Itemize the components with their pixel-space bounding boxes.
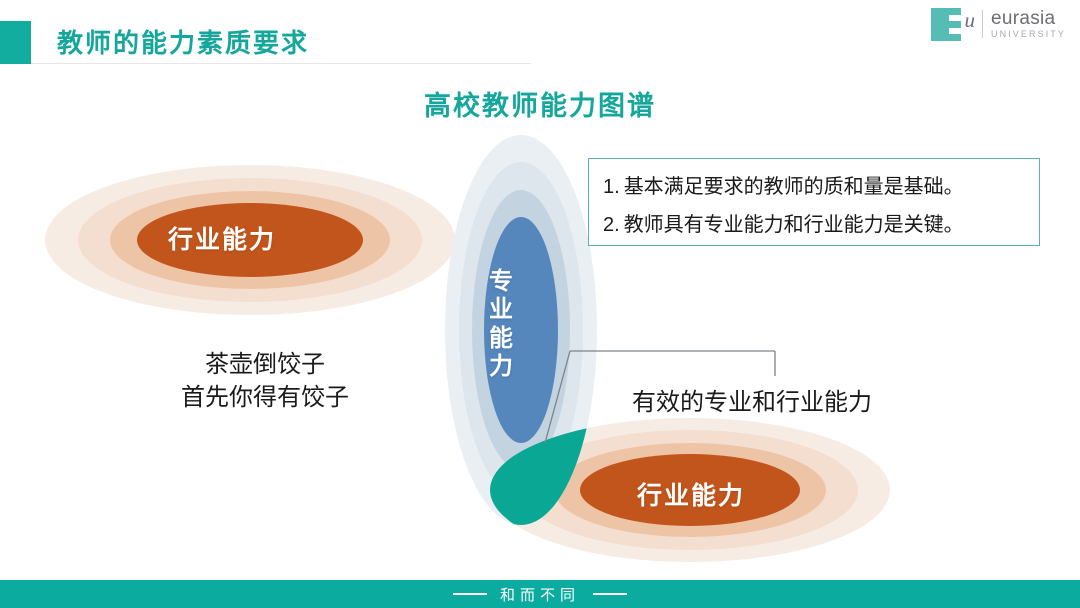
center-label-char-1: 专: [485, 268, 517, 296]
key-point-number: 1.: [603, 168, 620, 206]
slide-footer: 和而不同: [0, 580, 1080, 608]
capability-diagram: 行业能力 行业能力 专 业 能 力: [0, 0, 1080, 608]
footer-dash-right-icon: [593, 593, 627, 595]
teapot-metaphor-note: 茶壶倒饺子 首先你得有饺子: [110, 348, 420, 414]
footer-content: 和而不同: [453, 584, 627, 605]
key-point-text: 基本满足要求的教师的质和量是基础。: [624, 168, 964, 206]
key-point-text: 教师具有专业能力和行业能力是关键。: [624, 206, 964, 244]
teapot-note-line-2: 首先你得有饺子: [110, 381, 420, 414]
right-ellipse-label: 行业能力: [637, 476, 745, 512]
center-ellipse-label: 专 业 能 力: [485, 268, 517, 381]
teapot-note-line-1: 茶壶倒饺子: [110, 348, 420, 381]
center-label-char-3: 能: [485, 325, 517, 353]
key-point-item: 1. 基本满足要求的教师的质和量是基础。: [603, 168, 1025, 206]
left-ellipse-label: 行业能力: [168, 220, 276, 256]
intersection-callout-label: 有效的专业和行业能力: [632, 382, 872, 417]
center-label-char-4: 力: [485, 353, 517, 381]
footer-dash-left-icon: [453, 593, 487, 595]
key-point-item: 2. 教师具有专业能力和行业能力是关键。: [603, 206, 1025, 244]
slide-canvas: 教师的能力素质要求 u eurasia UNIVERSITY 高校教师能力图谱: [0, 0, 1080, 608]
key-point-number: 2.: [603, 206, 620, 244]
key-points-box: 1. 基本满足要求的教师的质和量是基础。 2. 教师具有专业能力和行业能力是关键…: [588, 158, 1040, 246]
footer-motto: 和而不同: [500, 584, 580, 605]
center-label-char-2: 业: [485, 296, 517, 324]
